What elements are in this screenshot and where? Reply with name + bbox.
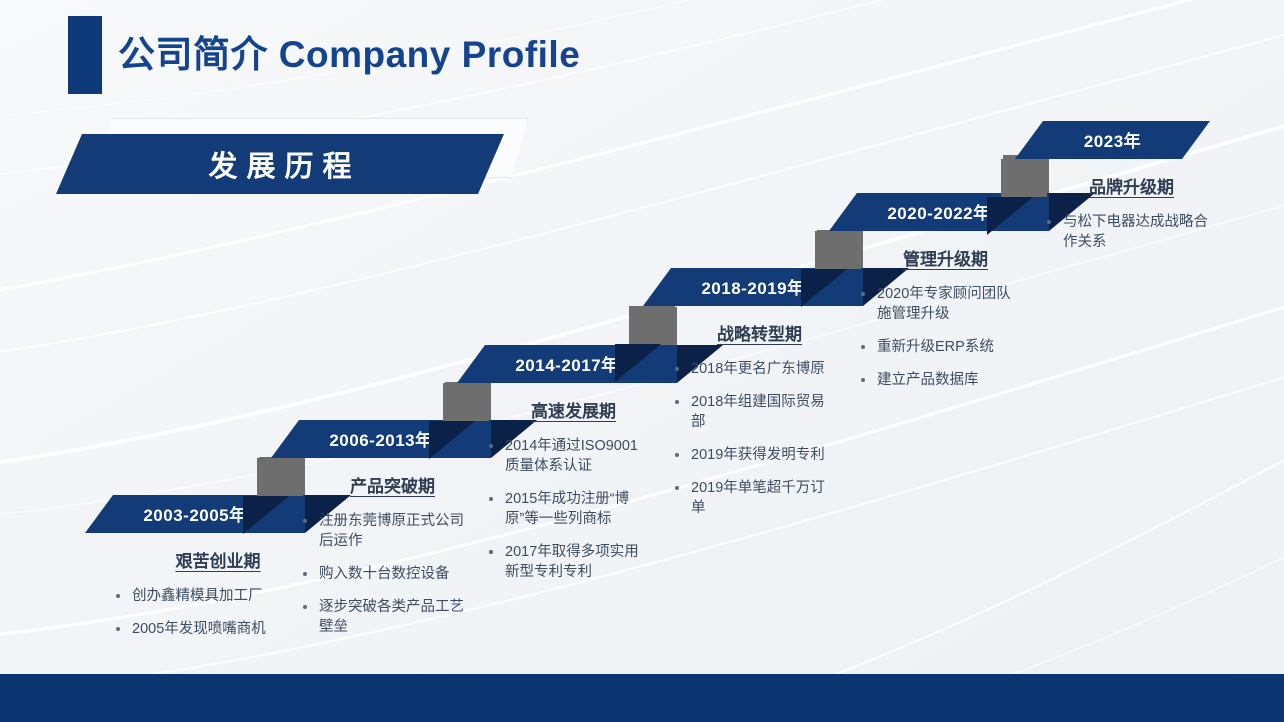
step-bullet-item: 2018年组建国际贸易部 (672, 392, 837, 432)
step-bullet-item: 注册东莞博原正式公司后运作 (300, 511, 475, 551)
step-content: 战略转型期2018年更名广东博原2018年组建国际贸易部2019年获得发明专利2… (672, 320, 877, 531)
step-bullet-item: 建立产品数据库 (858, 370, 1023, 390)
step-riser-square (257, 458, 303, 496)
title-accent-bar (68, 16, 102, 94)
step-year-label: 2018-2019年 (701, 274, 804, 299)
bottom-band (0, 674, 1284, 722)
step-riser-square (443, 383, 489, 421)
step-phase-title: 高速发展期 (486, 397, 661, 422)
step-content: 高速发展期2014年通过ISO9001质量体系认证2015年成功注册“博原”等一… (486, 397, 691, 595)
step-riser-square (629, 306, 675, 344)
step-content: 品牌升级期与松下电器达成战略合作关系 (1044, 173, 1249, 265)
step-year-label: 2003-2005年 (143, 501, 246, 526)
step-bullet-item: 2005年发现喷嘴商机 (113, 619, 313, 639)
step-phase-title: 艰苦创业期 (113, 547, 323, 572)
step-year-label: 2014-2017年 (515, 351, 618, 376)
step-bullet-list: 2020年专家顾问团队施管理升级重新升级ERP系统建立产品数据库 (858, 284, 1023, 390)
step-bullet-item: 逐步突破各类产品工艺壁垒 (300, 597, 475, 637)
page-title: 公司简介 Company Profile (118, 24, 580, 86)
step-bullet-list: 2014年通过ISO9001质量体系认证2015年成功注册“博原”等一些列商标2… (486, 436, 651, 582)
step-bullet-list: 注册东莞博原正式公司后运作购入数十台数控设备逐步突破各类产品工艺壁垒 (300, 511, 475, 637)
section-banner: 发展历程 (56, 118, 536, 196)
step-year-label: 2020-2022年 (887, 199, 990, 224)
step-year-label: 2006-2013年 (329, 426, 432, 451)
step-content: 艰苦创业期创办鑫精模具加工厂2005年发现喷嘴商机 (113, 547, 318, 652)
step-bullet-item: 2018年更名广东博原 (672, 359, 837, 379)
banner-label: 发展历程 (56, 134, 504, 194)
step-bullet-item: 2019年获得发明专利 (672, 445, 837, 465)
step-bullet-item: 2014年通过ISO9001质量体系认证 (486, 436, 651, 476)
step-phase-title: 战略转型期 (672, 320, 847, 345)
step-bullet-list: 与松下电器达成战略合作关系 (1044, 212, 1209, 252)
step-year-label: 2023年 (1084, 127, 1141, 152)
step-bullet-item: 与松下电器达成战略合作关系 (1044, 212, 1209, 252)
step-bullet-list: 2018年更名广东博原2018年组建国际贸易部2019年获得发明专利2019年单… (672, 359, 837, 518)
step-phase-title: 产品突破期 (300, 472, 485, 497)
step-phase-title: 管理升级期 (858, 245, 1033, 270)
step-riser-square (1001, 159, 1047, 197)
step-bullet-item: 购入数十台数控设备 (300, 564, 475, 584)
step-bullet-item: 2020年专家顾问团队施管理升级 (858, 284, 1023, 324)
header: 公司简介 Company Profile (0, 0, 1284, 110)
step-year-bar[interactable]: 2023年 (1015, 121, 1210, 159)
step-bullet-item: 创办鑫精模具加工厂 (113, 586, 313, 606)
step-content: 产品突破期注册东莞博原正式公司后运作购入数十台数控设备逐步突破各类产品工艺壁垒 (300, 472, 505, 650)
step-bullet-item: 2017年取得多项实用新型专利专利 (486, 542, 651, 582)
step-riser-square (815, 231, 861, 269)
step-bullet-item: 重新升级ERP系统 (858, 337, 1023, 357)
step-content: 管理升级期2020年专家顾问团队施管理升级重新升级ERP系统建立产品数据库 (858, 245, 1063, 403)
step-bullet-item: 2019年单笔超千万订单 (672, 478, 837, 518)
step-bullet-list: 创办鑫精模具加工厂2005年发现喷嘴商机 (113, 586, 313, 639)
step-phase-title: 品牌升级期 (1044, 173, 1219, 198)
step-bullet-item: 2015年成功注册“博原”等一些列商标 (486, 489, 651, 529)
